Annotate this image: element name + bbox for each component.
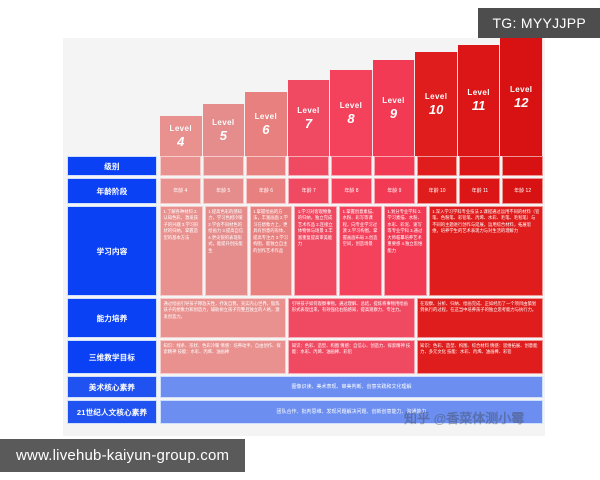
matrix-cell[interactable]: 1.划分专业学科 2.学习素描、水粉、水彩、彩泥、速写等专业学科 3.通过大师临… (384, 206, 427, 296)
level-header-11[interactable]: Level11 (458, 45, 501, 156)
matrix-cell[interactable]: 知识：色彩、造型、构图 情感：自信心、创造力、探索精神 技能：水彩、丙烯、油画棒… (288, 340, 414, 374)
row-label[interactable]: 21世纪人文核心素养 (67, 400, 157, 424)
level-number: 11 (472, 99, 486, 112)
level-header-staircase: Level4Level5Level6Level7Level8Level9Leve… (63, 38, 545, 156)
matrix-row: 能力培养通过绘画引导孩子释放天性，抒发自我，充实内心世界。锻炼孩子的想象力和创造… (63, 298, 545, 340)
level-word: Level (255, 113, 277, 121)
level-header-10[interactable]: Level10 (415, 52, 458, 156)
level-word: Level (510, 86, 532, 94)
matrix-row: 21世纪人文核心素养团队合作、批判思维、发现问题解决问题、创新创意能力、沟通能力 (63, 400, 545, 426)
level-number: 6 (262, 123, 269, 136)
matrix-cell[interactable]: 在观察、分析、归纳、绘画完成、正如经历了一个项目由策划到执行的过程，在这当中培养… (417, 298, 543, 338)
row-label[interactable]: 三维教学目标 (67, 340, 157, 374)
matrix-cell[interactable]: 年龄 9 (374, 178, 415, 204)
row-label[interactable]: 年龄阶段 (67, 178, 157, 204)
matrix-row: 级别 (63, 156, 545, 178)
level-word: Level (340, 102, 362, 110)
matrix-cell[interactable]: 年龄 4 (160, 178, 201, 204)
matrix-cell[interactable]: 1.掌握创意素描、水粉、彩写等课程，向专业学习过渡 2.学习构图，掌握画面布局 … (339, 206, 382, 296)
row-cells (160, 156, 543, 176)
matrix-cell[interactable]: 年龄 10 (417, 178, 458, 204)
level-number: 7 (305, 117, 312, 130)
matrix-cell[interactable]: 1.了解各种材料 2.认知色彩，激发孩子的兴趣 3.学习形状的归纳，掌握造型的基… (160, 206, 203, 296)
level-number: 8 (347, 112, 354, 125)
level-header-9[interactable]: Level9 (373, 60, 416, 156)
matrix-cell[interactable] (288, 156, 329, 176)
row-cells: 通过绘画引导孩子释放天性，抒发自我，充实内心世界。锻炼孩子的想象力和创造力，辅助… (160, 298, 543, 338)
level-number: 5 (220, 129, 227, 142)
matrix-cell[interactable]: 知识：色彩、造型、构图、综合材料 情感：思维拓展、创意能力、多元文化 技能：水彩… (417, 340, 543, 374)
matrix-cell[interactable]: 年龄 8 (331, 178, 372, 204)
matrix-row: 三维教学目标知识：线条、形状、色彩冷暖 情感：培养动手、自由创作、探索精神 技能… (63, 340, 545, 376)
matrix-cell[interactable]: 1.学习对客观物象的归纳，独立完成艺术作品 2.连接立体物体与场景 3.丰富重复… (294, 206, 337, 296)
level-header-5[interactable]: Level5 (203, 104, 246, 156)
level-header-7[interactable]: Level7 (288, 80, 331, 156)
matrix-row: 学习内容1.了解各种材料 2.认知色彩，激发孩子的兴趣 3.学习形状的归纳，掌握… (63, 206, 545, 298)
row-label[interactable]: 能力培养 (67, 298, 157, 338)
matrix-cell[interactable]: 年龄 5 (203, 178, 244, 204)
matrix-cell[interactable] (246, 156, 287, 176)
level-header-8[interactable]: Level8 (330, 70, 373, 156)
row-cells: 知识：线条、形状、色彩冷暖 情感：培养动手、自由创作、探索精神 技能：水彩、丙烯… (160, 340, 543, 374)
row-cells: 年龄 4年龄 5年龄 6年龄 7年龄 8年龄 9年龄 10年龄 11年龄 12 (160, 178, 543, 204)
matrix-cell[interactable]: 年龄 11 (459, 178, 500, 204)
matrix-cell[interactable]: 1.提高色彩的感知力，学习色相冷暖 2.学会不同材色的绘画力 3.提高自信 4.… (205, 206, 248, 296)
level-word: Level (467, 89, 489, 97)
curriculum-matrix: 级别年龄阶段年龄 4年龄 5年龄 6年龄 7年龄 8年龄 9年龄 10年龄 11… (63, 156, 545, 428)
matrix-cell[interactable]: 年龄 7 (288, 178, 329, 204)
level-header-12[interactable]: Level12 (500, 38, 543, 156)
row-label[interactable]: 级别 (67, 156, 157, 176)
matrix-cell[interactable] (160, 156, 201, 176)
row-cells: 团队合作、批判思维、发现问题解决问题、创新创意能力、沟通能力 (160, 400, 543, 424)
level-header-4[interactable]: Level4 (160, 116, 203, 156)
matrix-cell[interactable] (459, 156, 500, 176)
level-word: Level (297, 107, 319, 115)
matrix-cell[interactable] (374, 156, 415, 176)
matrix-cell[interactable]: 引导孩子如何观察事物，通过理解、总结，提炼将事物用绘画形式表现出来，有效强化右脑… (288, 298, 414, 338)
matrix-cell[interactable]: 图像识读、美术表现、审美判断、创意实践和文化理解 (160, 376, 543, 398)
matrix-cell[interactable] (417, 156, 458, 176)
matrix-cell[interactable] (331, 156, 372, 176)
level-number: 12 (514, 96, 528, 109)
matrix-cell[interactable]: 通过绘画引导孩子释放天性，抒发自我，充实内心世界。锻炼孩子的想象力和创造力，辅助… (160, 298, 286, 338)
level-word: Level (425, 93, 447, 101)
matrix-cell[interactable]: 年龄 6 (246, 178, 287, 204)
matrix-row: 美术核心素养图像识读、美术表现、审美判断、创意实践和文化理解 (63, 376, 545, 400)
level-number: 4 (177, 135, 184, 148)
level-number: 10 (429, 103, 443, 116)
matrix-cell[interactable]: 团队合作、批判思维、发现问题解决问题、创新创意能力、沟通能力 (160, 400, 543, 424)
tg-badge: TG: MYYJJPP (478, 8, 600, 38)
matrix-cell[interactable]: 1.深入学习学科专业技法 2.课程通过运用不同的材料（铅笔、色粉笔、彩铅笔、丙烯… (429, 206, 543, 296)
row-cells: 1.了解各种材料 2.认知色彩，激发孩子的兴趣 3.学习形状的归纳，掌握造型的基… (160, 206, 543, 296)
level-header-6[interactable]: Level6 (245, 92, 288, 156)
matrix-cell[interactable]: 知识：线条、形状、色彩冷暖 情感：培养动手、自由创作、探索精神 技能：水彩、丙烯… (160, 340, 286, 374)
row-label[interactable]: 美术核心素养 (67, 376, 157, 398)
level-number: 9 (390, 107, 397, 120)
matrix-cell[interactable]: 年龄 12 (502, 178, 543, 204)
level-word: Level (382, 97, 404, 105)
row-label[interactable]: 学习内容 (67, 206, 157, 296)
matrix-cell[interactable]: 1.掌握绘画的方法，丰富画面 2.学习在想象力上，更具有创意的形体，提高专注力 … (250, 206, 293, 296)
matrix-row: 年龄阶段年龄 4年龄 5年龄 6年龄 7年龄 8年龄 9年龄 10年龄 11年龄… (63, 178, 545, 206)
row-cells: 图像识读、美术表现、审美判断、创意实践和文化理解 (160, 376, 543, 398)
url-banner: www.livehub-kaiyun-group.com (0, 439, 245, 472)
level-word: Level (212, 119, 234, 127)
level-word: Level (170, 125, 192, 133)
matrix-cell[interactable] (502, 156, 543, 176)
matrix-cell[interactable] (203, 156, 244, 176)
